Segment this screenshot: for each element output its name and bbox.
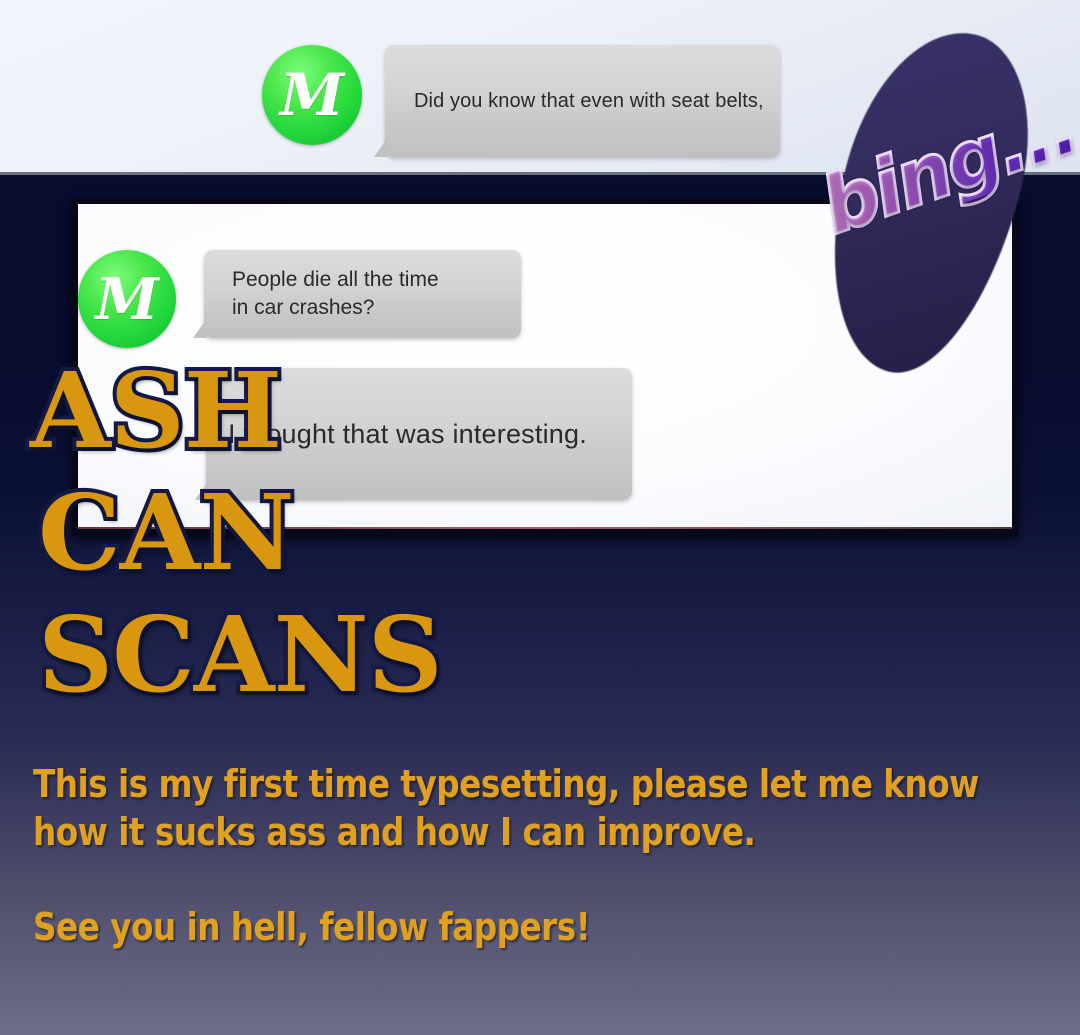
avatar-letter: M [280, 66, 344, 124]
note-line-1: This is my first time typesetting, pleas… [33, 760, 876, 808]
title-line-2: CAN [38, 484, 442, 582]
title-line-1: ASH [30, 362, 442, 460]
credits-notes: This is my first time typesetting, pleas… [33, 760, 1013, 951]
chat-row: M Did you know that even with seat belts… [262, 45, 780, 157]
avatar-letter: M [95, 271, 158, 328]
message-bubble: People die all the time in car crashes? [204, 250, 521, 338]
note-line-2: how it sucks ass and how I can improve. [33, 808, 876, 856]
group-title: ASH CAN SCANS [30, 362, 442, 703]
avatar: M [78, 250, 176, 348]
title-line-3: SCANS [38, 606, 442, 704]
scanlation-credits-page: M Did you know that even with seat belts… [0, 0, 1080, 1035]
message-text: Did you know that even with seat belts, [414, 90, 764, 113]
message-text: People die all the time in car crashes? [232, 266, 439, 321]
note-line-3: See you in hell, fellow fappers! [33, 903, 876, 951]
message-bubble: Did you know that even with seat belts, [385, 45, 780, 157]
note-spacer [33, 857, 1013, 903]
chat-row: M People die all the time in car crashes… [78, 250, 521, 348]
avatar: M [262, 45, 362, 145]
